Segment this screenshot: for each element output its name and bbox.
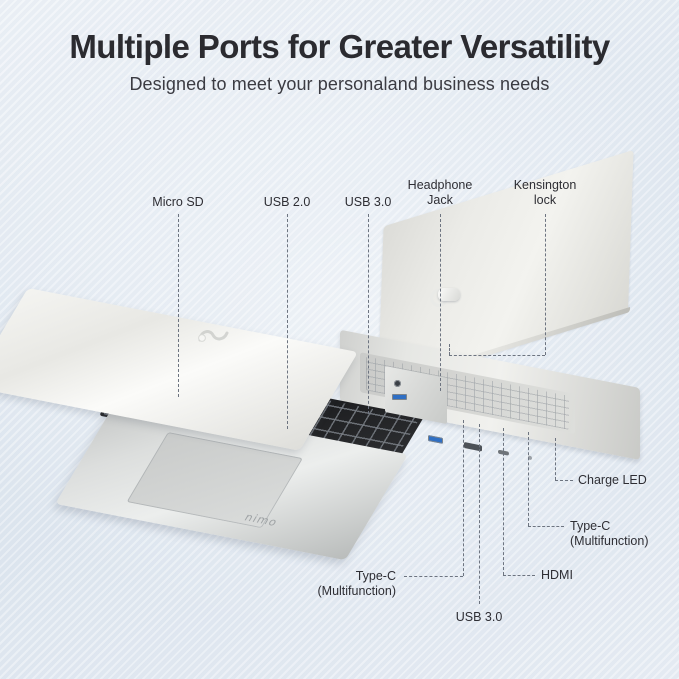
callout-label-hdmi: HDMI: [541, 568, 573, 583]
leader-line-headphone-jack: [440, 214, 441, 391]
callout-line: Type-C: [318, 569, 397, 584]
leader-line-type-c-left-horizontal: [404, 576, 463, 577]
leader-line-type-c-right-vertical: [528, 432, 529, 526]
lid-logo-icon: [196, 325, 232, 347]
kensington-lock-hardware: [430, 286, 464, 306]
callout-label-usb-2-0: USB 2.0: [264, 195, 311, 210]
port-usb-3-icon: [428, 435, 443, 444]
page-title: Multiple Ports for Greater Versatility: [0, 28, 679, 66]
leader-line-usb-2-0: [287, 214, 288, 429]
callout-label-headphone-jack: Headphone Jack: [408, 178, 473, 208]
callout-label-type-c-right: Type-C (Multifunction): [570, 519, 649, 549]
kensington-lock-body: [438, 288, 460, 301]
callout-label-type-c-left: Type-C (Multifunction): [318, 569, 397, 599]
callout-line: HDMI: [541, 568, 573, 583]
leader-line-charge-led-vertical: [555, 438, 556, 480]
leader-line-charge-led-horizontal: [555, 480, 573, 481]
callout-line: Kensington: [514, 178, 577, 193]
callout-line: (Multifunction): [318, 584, 397, 599]
leader-line-hdmi-vertical: [503, 428, 504, 575]
leader-line-hdmi-horizontal: [503, 575, 535, 576]
leader-line-type-c-right-horizontal: [528, 526, 564, 527]
headphone-jack-icon: [394, 380, 401, 387]
callout-line: lock: [514, 193, 577, 208]
callout-line: USB 3.0: [345, 195, 392, 210]
callout-label-usb-3-0-bottom: USB 3.0: [456, 610, 503, 625]
front-laptop-side-ports: [392, 378, 440, 408]
callout-label-charge-led: Charge LED: [578, 473, 647, 488]
leader-line-usb-3-0-top: [368, 214, 369, 414]
callout-line: Headphone: [408, 178, 473, 193]
callout-line: USB 2.0: [264, 195, 311, 210]
callout-line: Charge LED: [578, 473, 647, 488]
callout-line: Jack: [408, 193, 473, 208]
leader-line-kensington-stub: [449, 344, 450, 355]
port-usb-3-front-icon: [392, 394, 407, 400]
leader-line-usb-3-0-bottom: [479, 424, 480, 604]
callout-line: Micro SD: [152, 195, 203, 210]
leader-line-type-c-left-vertical: [463, 420, 464, 576]
leader-line-kensington-horizontal: [449, 355, 545, 356]
infographic-canvas: nimo Multiple Ports for Greater Versatil…: [0, 0, 679, 679]
callout-label-micro-sd: Micro SD: [152, 195, 203, 210]
leader-line-kensington-vertical: [545, 214, 546, 355]
callout-line: (Multifunction): [570, 534, 649, 549]
callout-label-usb-3-0-top: USB 3.0: [345, 195, 392, 210]
callout-line: USB 3.0: [456, 610, 503, 625]
callout-line: Type-C: [570, 519, 649, 534]
callout-label-kensington-lock: Kensington lock: [514, 178, 577, 208]
page-subtitle: Designed to meet your personaland busine…: [0, 74, 679, 95]
leader-line-micro-sd: [178, 214, 179, 397]
front-laptop-lid: [0, 288, 358, 451]
